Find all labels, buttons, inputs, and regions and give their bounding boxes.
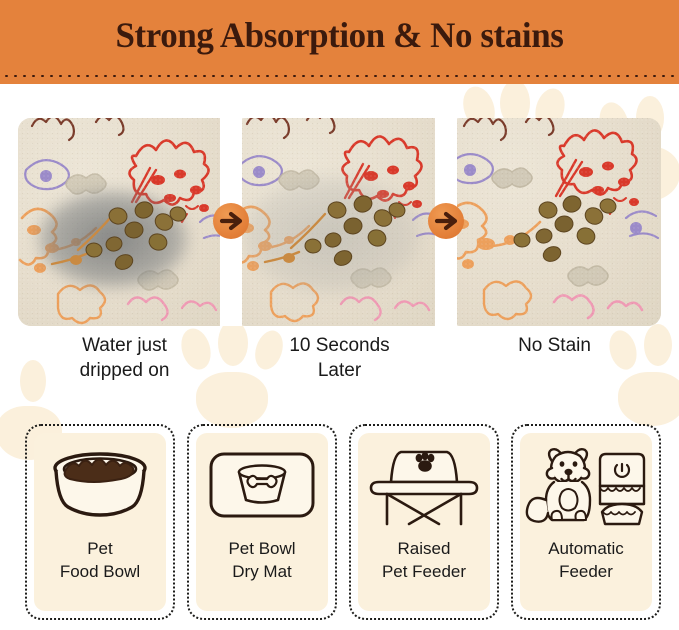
- automatic-feeder-icon: [520, 433, 652, 537]
- caption-line-1: Water just: [18, 333, 231, 358]
- panel-ten-seconds-later: [233, 118, 446, 326]
- card-label-line-1: Automatic: [548, 537, 624, 560]
- card-label-line-2: Feeder: [548, 560, 624, 583]
- card-raised-pet-feeder[interactable]: Raised Pet Feeder: [349, 424, 499, 620]
- caption-line-1: No Stain: [448, 333, 661, 358]
- caption-no-stain: No Stain: [448, 333, 661, 358]
- step-arrow-1: [213, 203, 249, 239]
- raised-pet-feeder-icon: [358, 433, 490, 537]
- card-label-line-2: Dry Mat: [228, 560, 295, 583]
- card-pet-food-bowl[interactable]: Pet Food Bowl: [25, 424, 175, 620]
- arrow-right-icon: [428, 203, 464, 239]
- step-arrow-2: [428, 203, 464, 239]
- use-case-cards: Pet Food Bowl: [0, 420, 679, 630]
- card-label: Automatic Feeder: [544, 537, 628, 583]
- card-label: Raised Pet Feeder: [378, 537, 470, 583]
- caption-line-1: 10 Seconds: [233, 333, 446, 358]
- card-label: Pet Food Bowl: [56, 537, 144, 583]
- kibble-pieces: [448, 118, 661, 326]
- kibble-pieces: [18, 118, 231, 326]
- pet-food-bowl-icon: [34, 433, 166, 537]
- card-label: Pet Bowl Dry Mat: [224, 537, 299, 583]
- caption-line-2: dripped on: [18, 358, 231, 383]
- card-label-line-1: Pet: [60, 537, 140, 560]
- card-label-line-2: Food Bowl: [60, 560, 140, 583]
- infographic-page: Strong Absorption & No stains: [0, 0, 679, 630]
- page-title: Strong Absorption & No stains: [10, 14, 669, 56]
- card-pet-bowl-dry-mat[interactable]: Pet Bowl Dry Mat: [187, 424, 337, 620]
- dotted-divider: [0, 72, 679, 78]
- card-label-line-2: Pet Feeder: [382, 560, 466, 583]
- kibble-pieces: [233, 118, 446, 326]
- caption-line-2: Later: [233, 358, 446, 383]
- caption-water-dripped: Water just dripped on: [18, 333, 231, 383]
- comparison-panels: [0, 84, 679, 344]
- header-banner: Strong Absorption & No stains: [0, 0, 679, 84]
- panel-water-dripped: [18, 118, 231, 326]
- card-automatic-feeder[interactable]: Automatic Feeder: [511, 424, 661, 620]
- panel-no-stain: [448, 118, 661, 326]
- panel-captions: Water just dripped on 10 Seconds Later N…: [0, 333, 679, 393]
- caption-ten-seconds-later: 10 Seconds Later: [233, 333, 446, 383]
- card-label-line-1: Raised: [382, 537, 466, 560]
- pet-bowl-dry-mat-icon: [196, 433, 328, 537]
- card-label-line-1: Pet Bowl: [228, 537, 295, 560]
- arrow-right-icon: [213, 203, 249, 239]
